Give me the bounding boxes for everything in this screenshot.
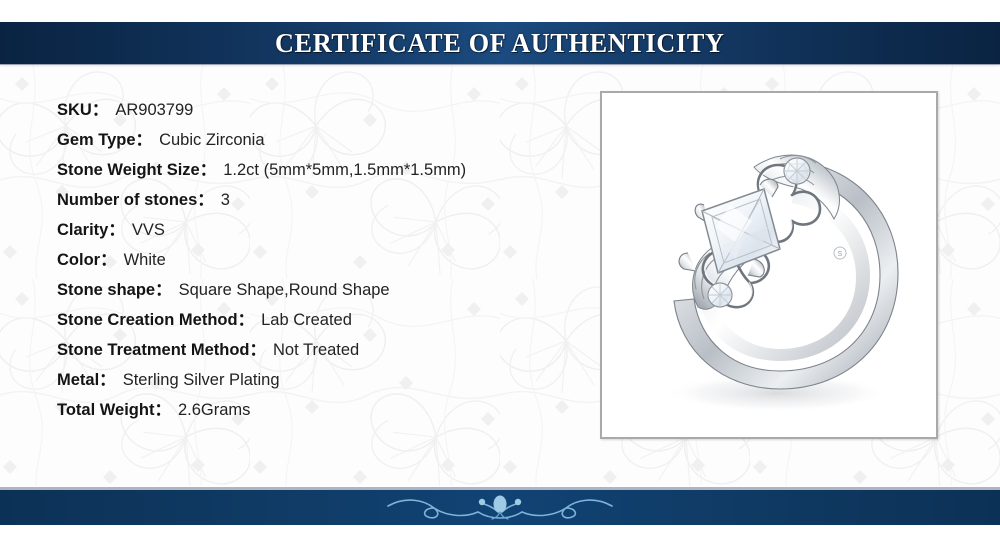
spec-row-stone-creation-method: Stone Creation Method： Lab Created [57, 306, 597, 336]
spec-label: Stone shape： [57, 276, 172, 300]
spec-row-stone-shape: Stone shape： Square Shape,Round Shape [57, 276, 597, 306]
svg-text:S: S [838, 251, 843, 258]
spec-label: Clarity： [57, 216, 125, 240]
spec-value: AR903799 [115, 101, 193, 120]
spec-row-sku: SKU： AR903799 [57, 96, 597, 126]
spec-value: White [124, 251, 166, 270]
spec-value: 2.6Grams [178, 401, 250, 420]
spec-row-color: Color： White [57, 246, 597, 276]
certificate-header-bar: CERTIFICATE OF AUTHENTICITY [0, 22, 1000, 64]
spec-label: Gem Type： [57, 126, 152, 150]
spec-label: Metal： [57, 366, 116, 390]
product-image-frame: S [600, 91, 938, 439]
certificate-page: CERTIFICATE OF AUTHENTICITY SKU： AR90379… [0, 0, 1000, 552]
page-title: CERTIFICATE OF AUTHENTICITY [275, 28, 725, 59]
spec-label: Stone Weight Size： [57, 156, 216, 180]
flourish-ornament-icon [380, 494, 620, 522]
spec-value: Cubic Zirconia [159, 131, 264, 150]
spec-row-metal: Metal： Sterling Silver Plating [57, 366, 597, 396]
spec-row-gem-type: Gem Type： Cubic Zirconia [57, 126, 597, 156]
spec-value: VVS [132, 221, 165, 240]
spec-value: Not Treated [273, 341, 359, 360]
spec-value: Lab Created [261, 311, 352, 330]
ring-product-image: S [602, 93, 932, 433]
spec-value: 3 [221, 191, 230, 210]
spec-row-stone-treatment-method: Stone Treatment Method： Not Treated [57, 336, 597, 366]
spec-label: SKU： [57, 96, 108, 120]
spec-value: 1.2ct (5mm*5mm,1.5mm*1.5mm) [223, 161, 466, 180]
spec-label: Total Weight： [57, 396, 171, 420]
certificate-footer-bar [0, 487, 1000, 525]
spec-label: Color： [57, 246, 117, 270]
spec-label: Stone Treatment Method： [57, 336, 266, 360]
specification-list: SKU： AR903799 Gem Type： Cubic Zirconia S… [57, 96, 597, 426]
spec-label: Stone Creation Method： [57, 306, 254, 330]
spec-row-number-of-stones: Number of stones： 3 [57, 186, 597, 216]
spec-value: Square Shape,Round Shape [179, 281, 390, 300]
spec-value: Sterling Silver Plating [123, 371, 280, 390]
spec-label: Number of stones： [57, 186, 214, 210]
spec-row-stone-weight-size: Stone Weight Size： 1.2ct (5mm*5mm,1.5mm*… [57, 156, 597, 186]
spec-row-total-weight: Total Weight： 2.6Grams [57, 396, 597, 426]
spec-row-clarity: Clarity： VVS [57, 216, 597, 246]
